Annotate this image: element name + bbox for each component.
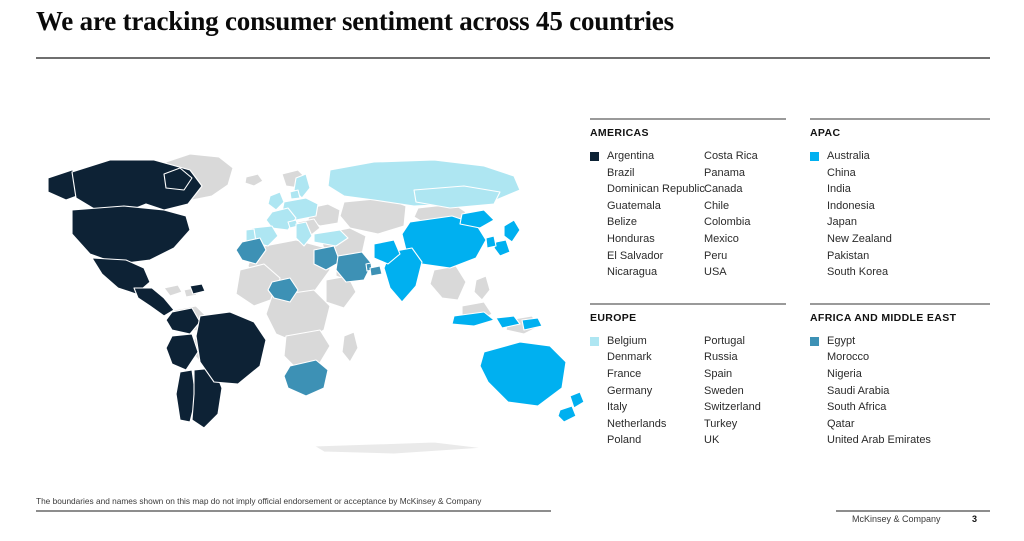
legend-title-americas: AMERICAS <box>590 127 786 139</box>
legend-item[interactable]: Japan <box>810 214 924 231</box>
legend-block-africa-middle-east: AFRICA AND MIDDLE EAST Egypt Morocco Nig… <box>810 303 990 449</box>
legend-column-1: Belgium Denmark France Germany <box>590 333 704 449</box>
legend-item[interactable]: Indonesia <box>810 198 924 215</box>
legend-row-spacer <box>590 281 990 303</box>
legend-row-bottom: EUROPE Belgium Denmark France <box>590 303 990 449</box>
legend-title-africa-middle-east: AFRICA AND MIDDLE EAST <box>810 312 990 324</box>
legend-body-europe: Belgium Denmark France Germany <box>590 333 786 449</box>
legend-item[interactable]: Saudi Arabia <box>810 383 924 400</box>
legend-item-label: Denmark <box>607 349 652 366</box>
legend-item-label: China <box>827 165 856 182</box>
legend-item[interactable]: Australia <box>810 148 924 165</box>
legend-item-label: South Korea <box>827 264 888 281</box>
legend-item[interactable]: China <box>810 165 924 182</box>
legend-item[interactable]: Argentina <box>590 148 704 165</box>
legend-item[interactable]: South Korea <box>810 264 924 281</box>
legend-swatch-europe <box>590 337 599 346</box>
legend-item[interactable]: New Zealand <box>810 231 924 248</box>
legend-item[interactable]: Honduras <box>590 231 704 248</box>
legend-item-label: Australia <box>827 148 870 165</box>
legend-item-label: Nicaragua <box>607 264 657 281</box>
legend-swatch-africa-middle-east <box>810 337 819 346</box>
legend-column-1: Australia China India Indonesia <box>810 148 924 281</box>
legend-item[interactable]: Switzerland <box>704 399 761 416</box>
legend-item[interactable]: El Salvador <box>590 248 704 265</box>
legend-column-2: Costa Rica Panama Canada Chile Colombia … <box>704 148 758 281</box>
page-number: 3 <box>972 514 977 524</box>
legend-item-label: Nigeria <box>827 366 862 383</box>
legend-item-label: Japan <box>827 214 857 231</box>
legend-title-apac: APAC <box>810 127 990 139</box>
legend-item-label: France <box>607 366 641 383</box>
legend: AMERICAS Argentina Brazil Dominican Repu… <box>590 118 990 449</box>
legend-item[interactable]: Belize <box>590 214 704 231</box>
legend-item[interactable]: USA <box>704 264 758 281</box>
legend-item-label: Argentina <box>607 148 654 165</box>
legend-block-rule <box>590 118 786 120</box>
legend-item[interactable]: Belgium <box>590 333 704 350</box>
legend-item[interactable]: Dominican Republic <box>590 181 704 198</box>
legend-item-label: Dominican Republic <box>607 181 705 198</box>
legend-swatch-apac <box>810 152 819 161</box>
legend-item[interactable]: India <box>810 181 924 198</box>
legend-item[interactable]: Germany <box>590 383 704 400</box>
legend-item[interactable]: Spain <box>704 366 761 383</box>
legend-item[interactable]: Colombia <box>704 214 758 231</box>
legend-column-1: Egypt Morocco Nigeria Saudi Arabia <box>810 333 924 449</box>
legend-column-1: Argentina Brazil Dominican Republic Guat… <box>590 148 704 281</box>
legend-item[interactable]: France <box>590 366 704 383</box>
map-region-americas <box>48 160 266 428</box>
legend-item[interactable]: Pakistan <box>810 248 924 265</box>
legend-item[interactable]: Russia <box>704 349 761 366</box>
world-map-svg <box>14 130 589 460</box>
legend-item[interactable]: Morocco <box>810 349 924 366</box>
legend-item[interactable]: South Africa <box>810 399 924 416</box>
legend-item-label: Brazil <box>607 165 635 182</box>
legend-item[interactable]: Poland <box>590 432 704 449</box>
legend-item-label: Pakistan <box>827 248 869 265</box>
legend-item[interactable]: Panama <box>704 165 758 182</box>
legend-item[interactable]: Chile <box>704 198 758 215</box>
legend-body-africa-middle-east: Egypt Morocco Nigeria Saudi Arabia <box>810 333 990 449</box>
legend-item[interactable]: Nicaragua <box>590 264 704 281</box>
legend-item-label: New Zealand <box>827 231 892 248</box>
legend-item-label: Egypt <box>827 333 855 350</box>
map-region-apac <box>374 210 584 422</box>
legend-item-label: Honduras <box>607 231 655 248</box>
legend-item[interactable]: Costa Rica <box>704 148 758 165</box>
legend-item[interactable]: Denmark <box>590 349 704 366</box>
legend-item-label: Saudi Arabia <box>827 383 889 400</box>
legend-item-label: South Africa <box>827 399 886 416</box>
legend-item-label: Italy <box>607 399 627 416</box>
legend-block-apac: APAC Australia China India <box>810 118 990 281</box>
legend-block-americas: AMERICAS Argentina Brazil Dominican Repu… <box>590 118 786 281</box>
legend-item[interactable]: Egypt <box>810 333 924 350</box>
legend-item[interactable]: Sweden <box>704 383 761 400</box>
legend-item[interactable]: Italy <box>590 399 704 416</box>
legend-row-top: AMERICAS Argentina Brazil Dominican Repu… <box>590 118 990 281</box>
legend-item[interactable]: United Arab Emirates <box>810 432 924 449</box>
legend-item[interactable]: Mexico <box>704 231 758 248</box>
legend-body-apac: Australia China India Indonesia <box>810 148 990 281</box>
legend-item-label: Guatemala <box>607 198 661 215</box>
legend-swatch-americas <box>590 152 599 161</box>
legend-item-label: Netherlands <box>607 416 666 433</box>
legend-item[interactable]: Netherlands <box>590 416 704 433</box>
legend-item-label: Poland <box>607 432 641 449</box>
legend-item-label: United Arab Emirates <box>827 432 931 449</box>
legend-block-rule <box>590 303 786 305</box>
legend-item[interactable]: Turkey <box>704 416 761 433</box>
legend-item-label: Belgium <box>607 333 647 350</box>
legend-item[interactable]: Peru <box>704 248 758 265</box>
legend-item-label: Belize <box>607 214 637 231</box>
legend-item[interactable]: UK <box>704 432 761 449</box>
legend-body-americas: Argentina Brazil Dominican Republic Guat… <box>590 148 786 281</box>
footer-divider <box>836 510 990 512</box>
legend-item-label: Morocco <box>827 349 869 366</box>
page-title: We are tracking consumer sentiment acros… <box>36 6 674 37</box>
legend-block-rule <box>810 303 990 305</box>
footnote-divider <box>36 510 551 512</box>
legend-title-europe: EUROPE <box>590 312 786 324</box>
legend-item[interactable]: Brazil <box>590 165 704 182</box>
legend-item-label: Indonesia <box>827 198 875 215</box>
legend-item-label: Qatar <box>827 416 855 433</box>
legend-item-label: Germany <box>607 383 652 400</box>
map-footnote: The boundaries and names shown on this m… <box>36 496 481 506</box>
legend-item[interactable]: Nigeria <box>810 366 924 383</box>
legend-item-label: El Salvador <box>607 248 663 265</box>
footer-brand: McKinsey & Company <box>852 514 941 524</box>
legend-item[interactable]: Qatar <box>810 416 924 433</box>
legend-item[interactable]: Canada <box>704 181 758 198</box>
header-divider <box>36 57 990 59</box>
legend-item[interactable]: Portugal <box>704 333 761 350</box>
legend-item-label: India <box>827 181 851 198</box>
legend-block-rule <box>810 118 990 120</box>
world-map <box>14 130 589 460</box>
legend-item[interactable]: Guatemala <box>590 198 704 215</box>
legend-block-europe: EUROPE Belgium Denmark France <box>590 303 786 449</box>
legend-column-2: Portugal Russia Spain Sweden Switzerland… <box>704 333 761 449</box>
